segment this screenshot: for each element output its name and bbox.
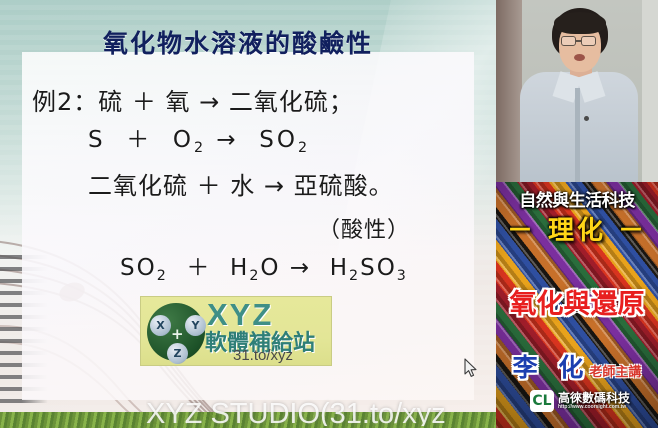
node-y-icon: Y [185,315,206,336]
property-note: （酸性） [318,212,410,244]
video-background-right [642,0,658,182]
screenshot-root: 氧化物水溶液的酸鹼性 例2：硫 ＋ 氧 → 二氧化硫； S ＋ O2 → SO2… [0,0,658,428]
presenter-video-feed[interactable] [496,0,658,182]
brand-url: http://www.coorsight.com.tw [558,405,630,410]
presenter-shirt-placket [575,88,580,182]
poster-teacher: 李 化老師主講 [496,348,658,384]
chemical-formula-line-1: S ＋ O2 → SO2 [88,120,310,154]
poster-topic: 氧化與還原 [496,282,658,321]
presenter-shirt-button [584,116,589,121]
brand-mark-icon: CL [530,390,554,412]
node-z-icon: Z [167,343,188,364]
course-poster: 自然與生活科技 － 理化 － 氧化與還原 李 化老師主講 CL 高徠數碼科技 h… [496,182,658,428]
studio-caption: XYZ STUDIO(31.to/xyz [146,398,496,426]
watermark-url: 31.to/xyz [233,347,293,364]
example-line: 例2：硫 ＋ 氧 → 二氧化硫； [32,82,354,117]
presenter-mouth [574,54,585,61]
slide-title: 氧化物水溶液的酸鹼性 [0,24,476,60]
xyz-watermark: X Y Z + XYZ 軟體補給站 31.to/xyz [140,296,332,366]
glasses-left-lens-icon [561,36,576,46]
node-x-icon: X [150,315,171,336]
right-sidebar: 自然與生活科技 － 理化 － 氧化與還原 李 化老師主講 CL 高徠數碼科技 h… [496,0,658,428]
mouse-cursor-icon [464,358,478,378]
glasses-right-lens-icon [581,36,596,46]
decorative-stripe-comb [0,255,48,405]
plus-icon: + [171,325,184,343]
brand-name: 高徠數碼科技 http://www.coorsight.com.tw [558,392,630,410]
poster-subject-area: 自然與生活科技 [496,186,658,211]
glasses-bridge-icon [576,40,581,42]
presenter-hair-fringe [554,12,606,34]
video-background-left [496,0,522,182]
chemical-formula-line-2: SO2 ＋ H2O → H2SO3 [120,248,408,282]
poster-teacher-role: 老師主講 [589,365,641,380]
presentation-slide: 氧化物水溶液的酸鹼性 例2：硫 ＋ 氧 → 二氧化硫； S ＋ O2 → SO2… [0,0,496,428]
poster-subject: － 理化 － [496,210,658,247]
word-equation-line-2: 二氧化硫 ＋ 水 → 亞硫酸。 [88,166,394,201]
poster-brand-logo: CL 高徠數碼科技 http://www.coorsight.com.tw [530,388,630,414]
brand-name-text: 高徠數碼科技 [558,391,630,405]
poster-teacher-name: 李 化 [513,353,590,382]
